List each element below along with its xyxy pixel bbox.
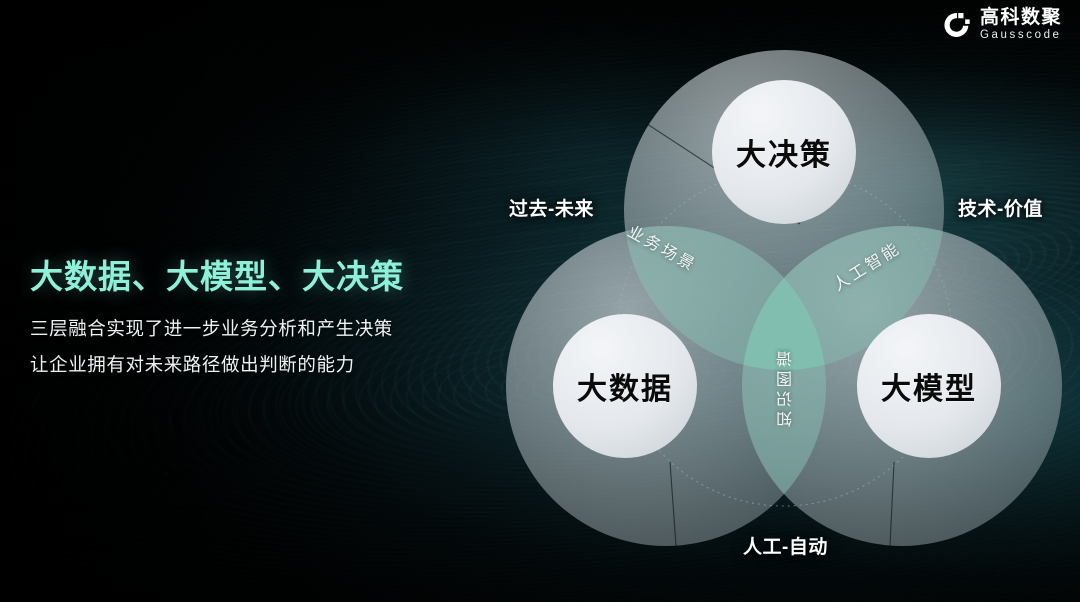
- venn-diagram: [470, 10, 1080, 602]
- venn-core-label-model: 大模型: [881, 364, 977, 408]
- venn-axis-label-past-future: 过去-未来: [509, 194, 594, 221]
- venn-axis-label-manual-auto: 人工-自动: [743, 532, 828, 559]
- page-title: 大数据、大模型、大决策: [30, 256, 460, 297]
- venn-axis-label-tech-value: 技术-价值: [958, 194, 1043, 221]
- venn-core-label-decision: 大决策: [736, 130, 832, 174]
- venn-core-label-bigdata: 大数据: [577, 364, 673, 408]
- venn-intersection-label-kg: 知识图谱: [775, 347, 799, 427]
- subtitle-line-1: 三层融合实现了进一步业务分析和产生决策: [30, 311, 460, 347]
- slide-canvas: 高科数聚 Gausscode 大数据、大模型、大决策 三层融合实现了进一步业务分…: [0, 0, 1080, 602]
- venn-diagram-svg: [470, 10, 1080, 602]
- left-copy-block: 大数据、大模型、大决策 三层融合实现了进一步业务分析和产生决策 让企业拥有对未来…: [30, 256, 460, 383]
- subtitle-line-2: 让企业拥有对未来路径做出判断的能力: [30, 347, 460, 383]
